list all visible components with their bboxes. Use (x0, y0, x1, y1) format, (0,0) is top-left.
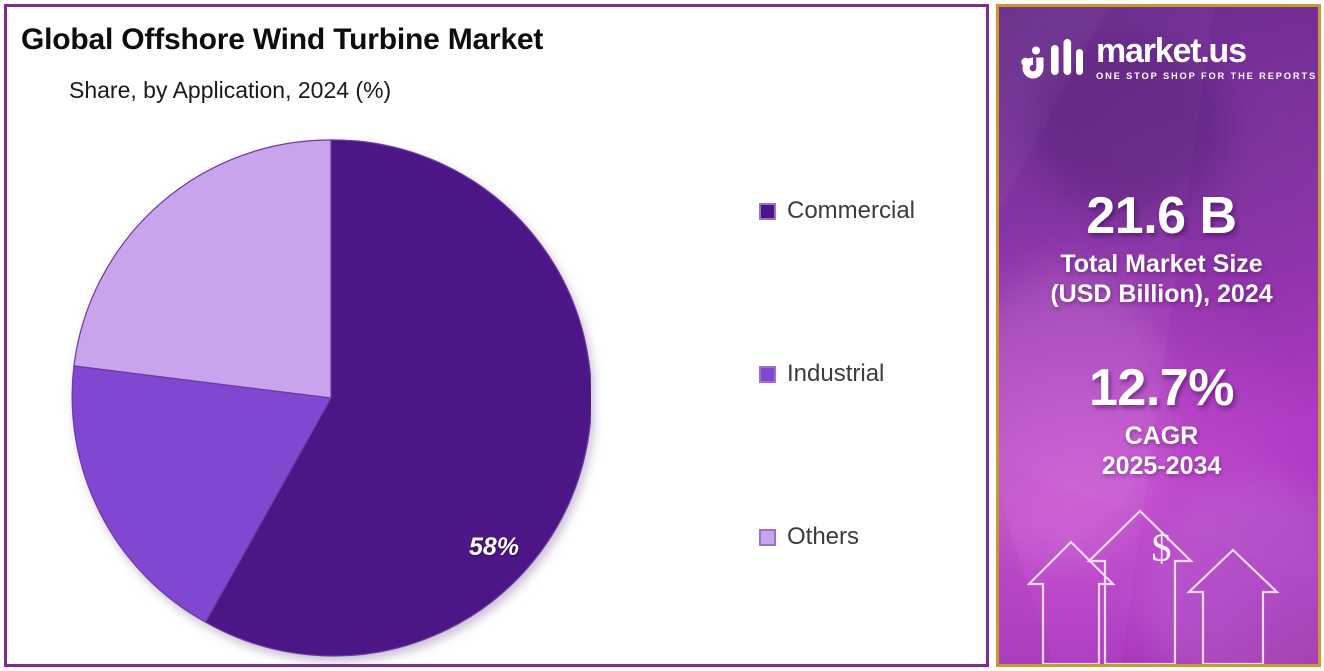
logo-wordmark: market.us (1096, 35, 1317, 68)
summary-panel: market.us ONE STOP SHOP FOR THE REPORTS … (996, 4, 1321, 667)
legend-item-commercial[interactable]: Commercial (759, 193, 979, 229)
pie-chart: 58% (71, 138, 591, 658)
chart-panel: Global Offshore Wind Turbine Market Shar… (4, 4, 989, 667)
legend-swatch-icon (759, 366, 776, 383)
legend-item-others[interactable]: Others (759, 519, 979, 555)
infographic-root: Global Offshore Wind Turbine Market Shar… (0, 0, 1324, 671)
stat-cagr: 12.7% CAGR 2025-2034 (999, 362, 1321, 481)
stat-label: Total Market Size (USD Billion), 2024 (999, 250, 1321, 309)
stat-label: CAGR 2025-2034 (999, 422, 1321, 481)
stat-label-line-1: CAGR (999, 422, 1321, 452)
logo-text: market.us ONE STOP SHOP FOR THE REPORTS (1096, 35, 1317, 81)
legend-swatch-icon (759, 529, 776, 546)
market-us-logo-icon (1021, 37, 1083, 79)
stat-value: 12.7% (999, 362, 1321, 414)
legend-item-industrial[interactable]: Industrial (759, 356, 979, 392)
legend-label: Industrial (787, 360, 884, 388)
stat-label-line-1: Total Market Size (999, 250, 1321, 280)
chart-legend: Commercial Industrial Others (759, 193, 979, 555)
dollar-sign-icon: $ (999, 524, 1321, 571)
legend-label: Commercial (787, 197, 915, 225)
pie-slice-others[interactable] (74, 140, 331, 398)
page-title: Global Offshore Wind Turbine Market (21, 23, 543, 57)
logo-tagline: ONE STOP SHOP FOR THE REPORTS (1096, 71, 1317, 81)
pie-slice-value-label: 58% (469, 533, 519, 562)
legend-swatch-icon (759, 203, 776, 220)
legend-label: Others (787, 523, 859, 551)
brand-logo[interactable]: market.us ONE STOP SHOP FOR THE REPORTS (1021, 35, 1317, 81)
stat-market-size: 21.6 B Total Market Size (USD Billion), … (999, 190, 1321, 309)
stat-label-line-2: (USD Billion), 2024 (999, 280, 1321, 310)
chart-subtitle: Share, by Application, 2024 (%) (69, 77, 391, 104)
stat-value: 21.6 B (999, 190, 1321, 242)
pie-svg (71, 138, 591, 658)
stat-label-line-2: 2025-2034 (999, 452, 1321, 482)
